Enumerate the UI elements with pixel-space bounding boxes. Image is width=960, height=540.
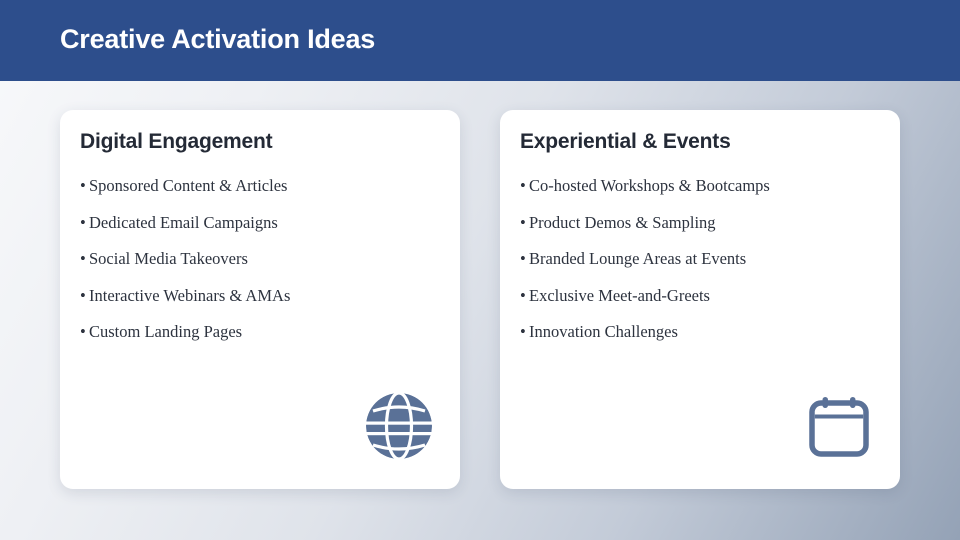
slide-canvas: Creative Activation Ideas Digital Engage… <box>0 0 960 540</box>
list-item: •Custom Landing Pages <box>80 321 444 358</box>
list-item-label: Custom Landing Pages <box>89 322 242 341</box>
list-item-label: Branded Lounge Areas at Events <box>529 249 746 268</box>
list-item: •Interactive Webinars & AMAs <box>80 285 444 322</box>
bullet-marker: • <box>80 321 89 343</box>
bullet-marker: • <box>520 175 529 197</box>
globe-icon <box>364 391 434 461</box>
list-item: •Social Media Takeovers <box>80 248 444 285</box>
bullet-marker: • <box>80 175 89 197</box>
list-item: •Dedicated Email Campaigns <box>80 212 444 249</box>
bullet-marker: • <box>520 248 529 270</box>
list-item: •Co-hosted Workshops & Bootcamps <box>520 175 884 212</box>
bullet-marker: • <box>520 285 529 307</box>
list-item: •Exclusive Meet-and-Greets <box>520 285 884 322</box>
list-item: •Sponsored Content & Articles <box>80 175 444 212</box>
list-item-label: Innovation Challenges <box>529 322 678 341</box>
bullet-marker: • <box>80 248 89 270</box>
list-item: •Innovation Challenges <box>520 321 884 358</box>
list-item-label: Sponsored Content & Articles <box>89 176 287 195</box>
bullet-list: •Co-hosted Workshops & Bootcamps •Produc… <box>520 175 884 358</box>
bullet-marker: • <box>80 212 89 234</box>
list-item-label: Dedicated Email Campaigns <box>89 213 278 232</box>
card-digital-engagement: Digital Engagement •Sponsored Content & … <box>60 110 460 489</box>
bullet-marker: • <box>80 285 89 307</box>
list-item: •Product Demos & Sampling <box>520 212 884 249</box>
calendar-icon <box>804 391 874 461</box>
list-item-label: Social Media Takeovers <box>89 249 248 268</box>
list-item: •Branded Lounge Areas at Events <box>520 248 884 285</box>
bullet-marker: • <box>520 212 529 234</box>
page-title: Creative Activation Ideas <box>60 24 375 55</box>
list-item-label: Co-hosted Workshops & Bootcamps <box>529 176 770 195</box>
list-item-label: Exclusive Meet-and-Greets <box>529 286 710 305</box>
slide-header-band: Creative Activation Ideas <box>0 0 960 81</box>
list-item-label: Product Demos & Sampling <box>529 213 716 232</box>
bullet-marker: • <box>520 321 529 343</box>
card-title: Digital Engagement <box>80 130 272 154</box>
card-experiential-events: Experiential & Events •Co-hosted Worksho… <box>500 110 900 489</box>
card-title: Experiential & Events <box>520 130 731 154</box>
list-item-label: Interactive Webinars & AMAs <box>89 286 290 305</box>
bullet-list: •Sponsored Content & Articles •Dedicated… <box>80 175 444 358</box>
